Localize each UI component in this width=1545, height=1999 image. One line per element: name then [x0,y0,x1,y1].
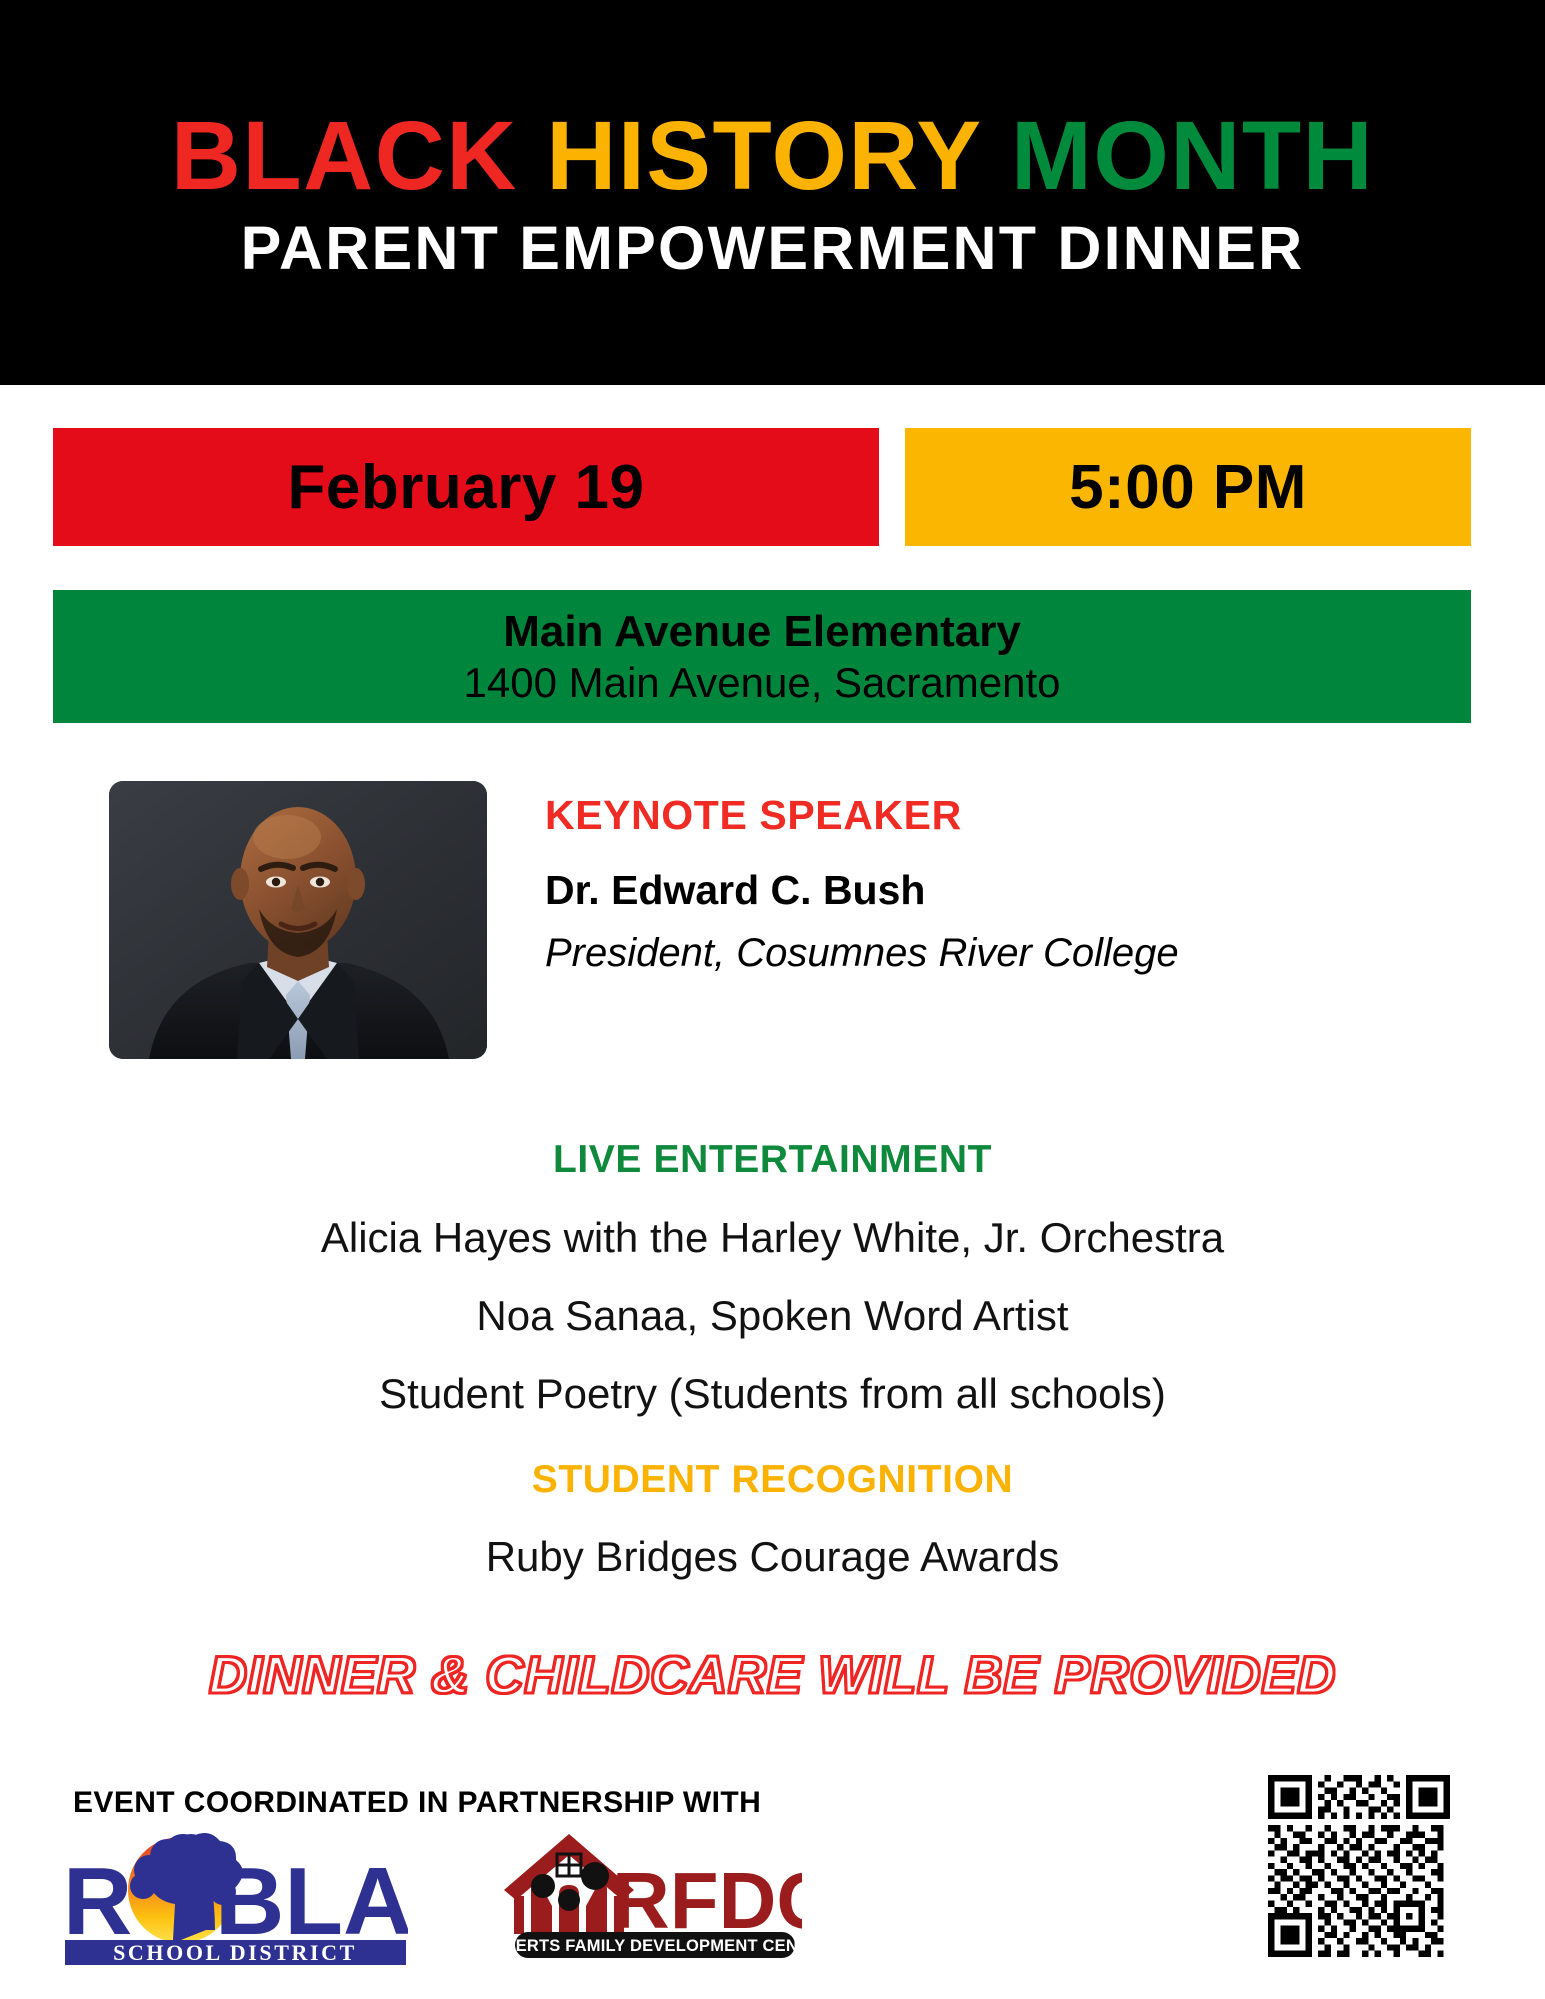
svg-text:BLA: BLA [215,1848,408,1955]
dinner-childcare-banner: DINNER & CHILDCARE WILL BE PROVIDED [0,1645,1545,1706]
student-recognition-heading: STUDENT RECOGNITION [0,1460,1545,1499]
page-title: BLACK HISTORY MONTH [171,107,1374,204]
entertainment-item: Noa Sanaa, Spoken Word Artist [0,1295,1545,1337]
event-qr-code[interactable] [1268,1775,1450,1957]
flyer-header: BLACK HISTORY MONTH PARENT EMPOWERMENT D… [0,0,1545,385]
robla-school-district-logo: R BLA SCHOOL DISTRICT [63,1828,408,1965]
event-location-bar: Main Avenue Elementary 1400 Main Avenue,… [53,590,1471,723]
rfdc-logo: RFDC ROBERTS FAMILY DEVELOPMENT CENTER [487,1828,802,1963]
svg-text:R: R [63,1848,132,1955]
speaker-photo [109,781,487,1059]
title-word-black: BLACK [171,101,518,210]
event-time-bar: 5:00 PM [905,428,1471,546]
title-word-month: MONTH [1011,101,1374,210]
page-subtitle: PARENT EMPOWERMENT DINNER [241,218,1305,279]
keynote-speaker-section: KEYNOTE SPEAKER Dr. Edward C. Bush Presi… [0,765,1545,1060]
venue-address: 1400 Main Avenue, Sacramento [464,659,1061,706]
speaker-title: President, Cosumnes River College [545,933,1485,973]
event-date-bar: February 19 [53,428,879,546]
entertainment-item: Student Poetry (Students from all school… [0,1373,1545,1415]
title-word-history: HISTORY [546,101,982,210]
event-time-text: 5:00 PM [1069,452,1307,523]
speaker-details: KEYNOTE SPEAKER Dr. Edward C. Bush Presi… [545,795,1485,973]
svg-text:ROBERTS FAMILY DEVELOPMENT CEN: ROBERTS FAMILY DEVELOPMENT CENTER [487,1937,802,1955]
svg-text:RFDC: RFDC [612,1856,802,1945]
recognition-item: Ruby Bridges Courage Awards [0,1536,1545,1578]
flyer-page: BLACK HISTORY MONTH PARENT EMPOWERMENT D… [0,0,1545,1999]
svg-text:SCHOOL DISTRICT: SCHOOL DISTRICT [113,1940,357,1965]
partnership-note: EVENT COORDINATED IN PARTNERSHIP WITH [73,1786,761,1820]
student-recognition-section: STUDENT RECOGNITION Ruby Bridges Courage… [0,1460,1545,1578]
entertainment-item: Alicia Hayes with the Harley White, Jr. … [0,1217,1545,1259]
speaker-name: Dr. Edward C. Bush [545,870,1485,911]
live-entertainment-heading: LIVE ENTERTAINMENT [0,1140,1545,1179]
event-date-text: February 19 [287,452,644,523]
keynote-label: KEYNOTE SPEAKER [545,795,1485,836]
live-entertainment-section: LIVE ENTERTAINMENT Alicia Hayes with the… [0,1140,1545,1415]
venue-name: Main Avenue Elementary [503,607,1021,656]
